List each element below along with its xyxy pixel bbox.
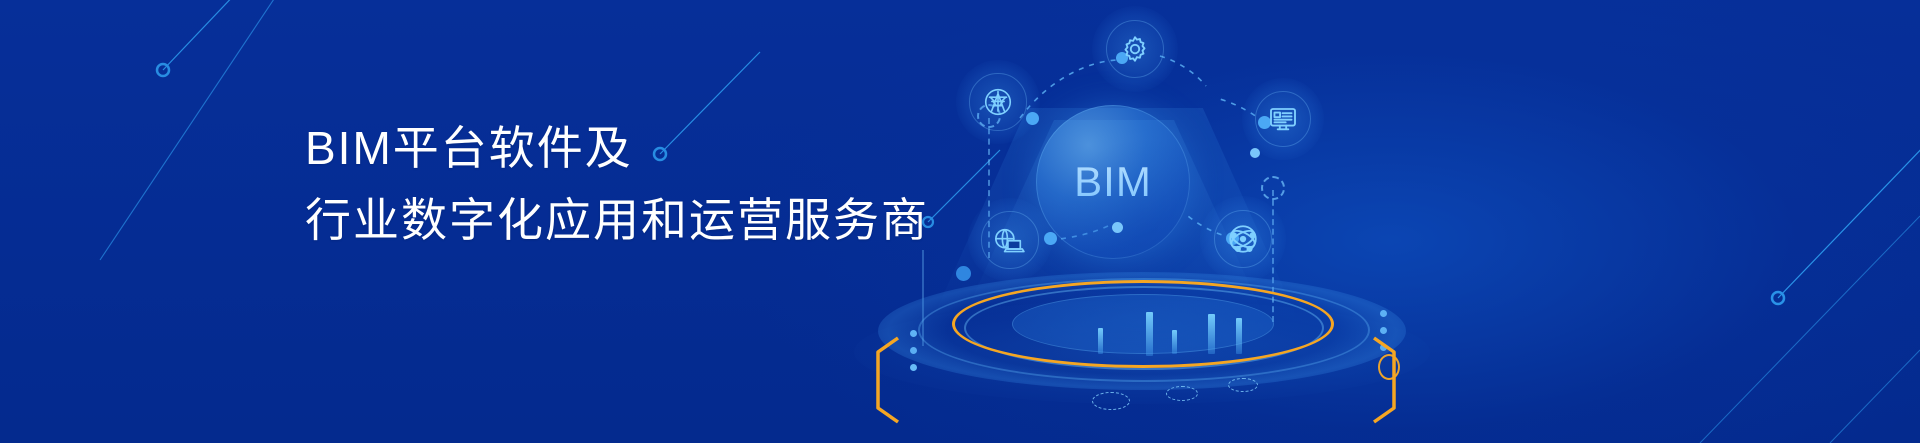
headline: BIM平台软件及 行业数字化应用和运营服务商 (305, 112, 929, 256)
hero-banner: BIM平台软件及 行业数字化应用和运营服务商 BIM (0, 0, 1920, 443)
diagonal-line-right-1 (1778, 140, 1920, 298)
headline-line-1: BIM平台软件及 (305, 112, 929, 184)
headline-line-2: 行业数字化应用和运营服务商 (305, 184, 929, 256)
diagonal-line-left-2 (100, 0, 300, 260)
diagonal-line-right-1-endpoint (1772, 292, 1784, 304)
globe-laptop-icon (992, 224, 1028, 256)
network-nodes-icon (1226, 222, 1260, 256)
monitor-dashboard-icon (1267, 103, 1299, 135)
corner-bracket-left (878, 338, 898, 422)
diagonal-line-left-1-endpoint (157, 64, 169, 76)
power-tower-icon (982, 86, 1014, 118)
bim-illustration: BIM (860, 0, 1420, 443)
corner-brackets (860, 0, 1420, 443)
diagonal-line-left-1 (163, 0, 258, 70)
corner-bracket-right (1374, 338, 1394, 422)
gear-icon (1120, 34, 1150, 64)
diagonal-line-right-3 (1830, 350, 1920, 443)
diagonal-line-right-2 (1700, 216, 1920, 443)
